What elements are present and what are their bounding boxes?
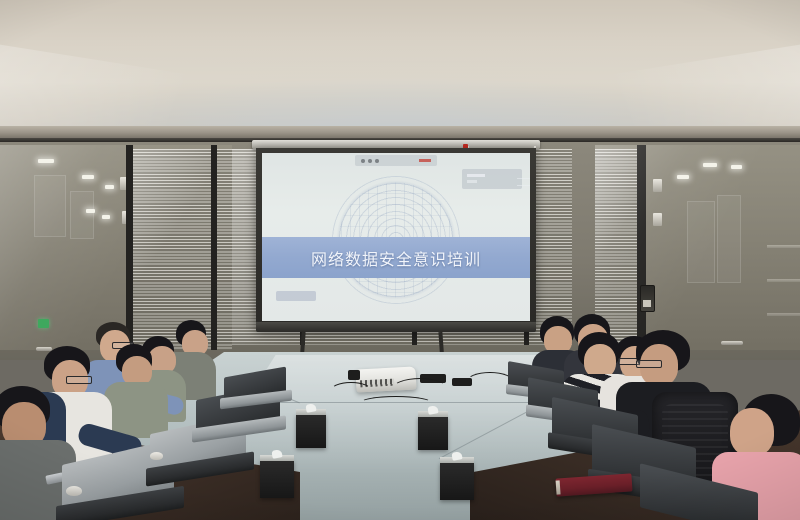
computer-mouse[interactable] — [66, 486, 82, 496]
downlight-icon — [105, 185, 114, 189]
head — [584, 344, 616, 378]
toolbar-dot-icon — [375, 159, 379, 163]
toolbar-highlight-icon — [419, 159, 431, 162]
downlight-icon — [102, 215, 110, 219]
ceiling — [0, 0, 800, 142]
tissue-box[interactable] — [418, 416, 448, 450]
projection-screen[interactable]: 网络数据安全意识培训 — [262, 153, 530, 321]
wall-sensor-icon — [653, 179, 662, 192]
blinds-sheen — [133, 149, 211, 350]
toolbar-dot-icon — [361, 159, 365, 163]
exit-sign-icon — [38, 319, 49, 328]
slide-corner-widget[interactable] — [462, 169, 522, 189]
glass-partition-left — [0, 145, 232, 350]
bookshelf-edge — [767, 245, 800, 248]
head — [730, 408, 774, 456]
bookshelf-edge — [767, 313, 800, 316]
glass-partition-right — [595, 145, 800, 350]
access-control-panel[interactable] — [640, 285, 655, 312]
downlight-icon — [82, 175, 94, 179]
door-handle-icon[interactable] — [721, 341, 743, 345]
window-blinds[interactable] — [133, 149, 211, 350]
cable — [330, 382, 372, 400]
slide: 网络数据安全意识培训 — [262, 153, 530, 321]
cable — [360, 396, 432, 410]
slide-title-band: 网络数据安全意识培训 — [262, 237, 530, 278]
tissue-box[interactable] — [260, 460, 294, 498]
eyeglasses-icon — [66, 376, 92, 384]
tissue-icon — [451, 451, 462, 461]
bookshelf-edge — [767, 279, 800, 282]
toolbar-dot-icon — [368, 159, 372, 163]
downlight-icon — [677, 175, 689, 179]
eyeglasses-icon — [636, 360, 662, 368]
connector-box — [348, 370, 360, 380]
downlight-icon — [38, 159, 54, 163]
tissue-box[interactable] — [296, 414, 326, 448]
glass-reflected-shape — [717, 195, 741, 283]
presentation-toolbar-overlay[interactable] — [355, 155, 437, 166]
projection-screen-weight-bar — [256, 322, 536, 332]
slide-subtitle-placeholder — [276, 291, 316, 301]
glass-mullion — [126, 145, 133, 350]
downlight-icon — [703, 163, 717, 167]
computer-mouse[interactable] — [150, 452, 163, 460]
downlight-icon — [86, 209, 95, 213]
downlight-icon — [731, 165, 742, 169]
window-blinds[interactable] — [217, 149, 232, 350]
glass-reflected-column — [34, 175, 66, 237]
glass-reflected-column — [70, 191, 94, 239]
tissue-icon — [271, 449, 282, 459]
slide-title: 网络数据安全意识培训 — [311, 246, 481, 270]
tissue-box[interactable] — [440, 462, 474, 500]
glass-reflected-shape — [687, 201, 715, 283]
meeting-room-photo: 网络数据安全意识培训 — [0, 0, 800, 520]
slide-widget-tail — [517, 178, 530, 186]
wall-sensor-icon — [653, 213, 662, 226]
